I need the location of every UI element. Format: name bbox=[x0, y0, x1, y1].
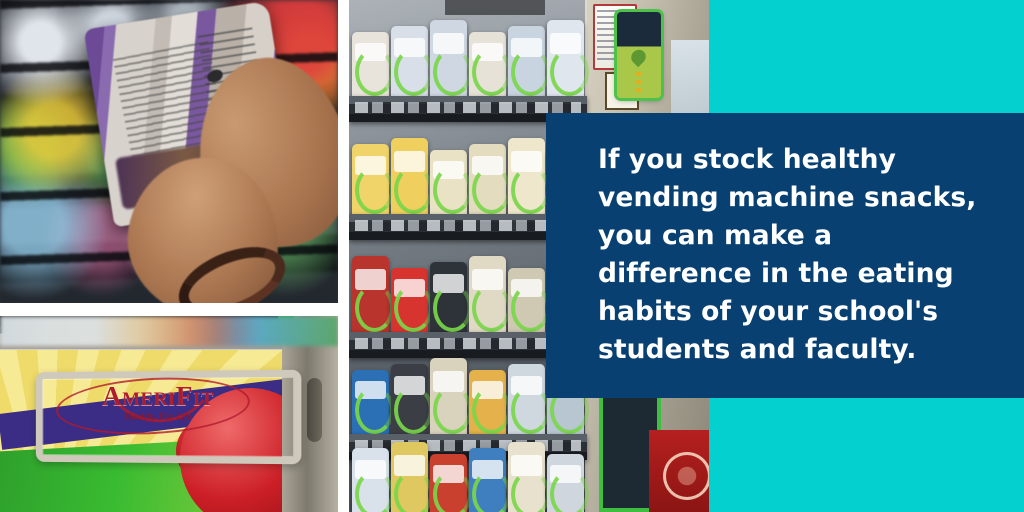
dispenser-coil bbox=[355, 386, 394, 434]
dispenser-coil bbox=[394, 386, 433, 434]
snack-snack-pack[interactable] bbox=[508, 26, 545, 100]
shelf-price-tags bbox=[355, 102, 581, 113]
dispenser-coil bbox=[472, 284, 511, 332]
snack-snack-pack[interactable] bbox=[469, 448, 506, 512]
snack-snack-pack[interactable] bbox=[469, 256, 506, 336]
snack-snack-pack[interactable] bbox=[508, 268, 545, 336]
snack-snack-pack[interactable] bbox=[352, 370, 389, 438]
snack-snack-pack[interactable] bbox=[391, 364, 428, 438]
snack-lays-oven-baked[interactable] bbox=[352, 144, 389, 218]
dispenser-coil bbox=[355, 470, 394, 512]
photo-amerifit-machine-front: AmeriFit Healthy For Life bbox=[0, 316, 338, 512]
snack-snack-pack[interactable] bbox=[508, 442, 545, 512]
photo-hands-reading-snack-label bbox=[0, 0, 338, 303]
dispenser-coil bbox=[355, 284, 394, 332]
snack-snack-pack[interactable] bbox=[547, 20, 584, 100]
snack-snack-pack[interactable] bbox=[391, 442, 428, 512]
dispenser-coil bbox=[550, 48, 589, 96]
dispenser-coil bbox=[433, 48, 472, 96]
dispenser-coil bbox=[511, 166, 550, 214]
graphic-canvas: AmeriFit Healthy For Life bbox=[0, 0, 1024, 512]
quote-panel: If you stock healthy vending machine sna… bbox=[546, 113, 1024, 398]
dispenser-coil bbox=[511, 48, 550, 96]
dispenser-coil bbox=[394, 166, 433, 214]
dispenser-coil bbox=[355, 166, 394, 214]
snack-lays-oven-baked[interactable] bbox=[391, 138, 428, 218]
snack-snack-pack[interactable] bbox=[430, 20, 467, 100]
shelf-row bbox=[349, 432, 587, 512]
door-handle[interactable] bbox=[307, 378, 322, 442]
snack-snack-pack[interactable] bbox=[430, 454, 467, 512]
dispenser-coil bbox=[433, 386, 472, 434]
snack-snack-pack[interactable] bbox=[430, 262, 467, 336]
snack-snack-pack[interactable] bbox=[469, 370, 506, 438]
dispenser-coil bbox=[355, 48, 394, 96]
dispenser-coil bbox=[472, 386, 511, 434]
dispenser-coil bbox=[511, 386, 550, 434]
shelf-row bbox=[349, 10, 587, 100]
snack-snack-pack[interactable] bbox=[547, 454, 584, 512]
school-seal-icon bbox=[663, 452, 709, 500]
dispenser-coil bbox=[472, 470, 511, 512]
snack-snack-pack[interactable] bbox=[352, 32, 389, 100]
snack-david-sunflower-seeds[interactable] bbox=[391, 268, 428, 336]
snack-snack-pack[interactable] bbox=[352, 256, 389, 336]
snack-snack-pack[interactable] bbox=[352, 448, 389, 512]
dispenser-coil bbox=[433, 470, 472, 512]
dispenser-coil bbox=[433, 166, 472, 214]
dispenser-coil bbox=[472, 48, 511, 96]
quote-text: If you stock healthy vending machine sna… bbox=[598, 141, 978, 369]
dispenser-coil bbox=[394, 470, 433, 512]
snack-baked-chips[interactable] bbox=[469, 144, 506, 218]
snack-snack-pack[interactable] bbox=[391, 26, 428, 100]
snack-snack-pack[interactable] bbox=[469, 32, 506, 100]
dispenser-coil bbox=[433, 284, 472, 332]
snack-baked-chips[interactable] bbox=[508, 138, 545, 218]
reader-indicator-lights bbox=[635, 72, 641, 94]
dispenser-coil bbox=[472, 166, 511, 214]
snack-snack-pack[interactable] bbox=[508, 364, 545, 438]
dispenser-coil bbox=[511, 284, 550, 332]
dispenser-coil bbox=[394, 48, 433, 96]
dispenser-coil bbox=[511, 470, 550, 512]
dispenser-coil bbox=[550, 470, 589, 512]
dispenser-coil bbox=[394, 284, 433, 332]
snack-baked-chips[interactable] bbox=[430, 150, 467, 218]
top-shelf-blur bbox=[0, 316, 338, 346]
snack-snack-pack[interactable] bbox=[430, 358, 467, 438]
